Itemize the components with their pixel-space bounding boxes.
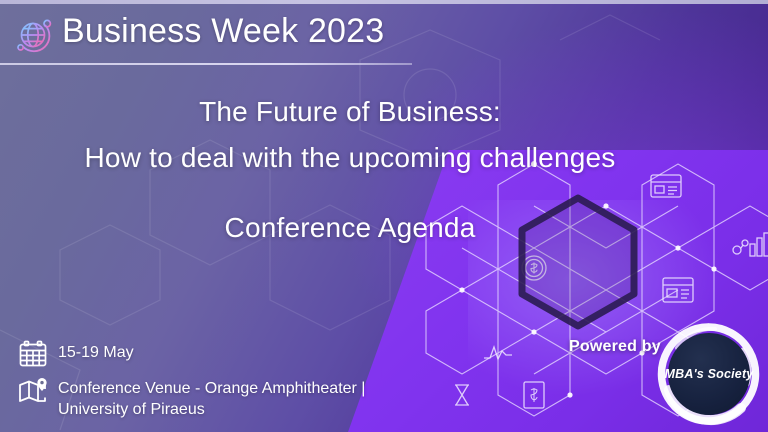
- hourglass-icon: [455, 385, 469, 405]
- browser-window-icon: [651, 175, 681, 197]
- badge-label: MBA's Society: [665, 367, 754, 381]
- globe-network-icon: [12, 14, 56, 54]
- hexagon-outline-icon: [514, 192, 642, 332]
- powered-by-label: Powered by: [569, 338, 661, 356]
- event-date-row: 15-19 May: [18, 340, 438, 368]
- event-venue-text: Conference Venue - Orange Amphitheater |…: [58, 376, 438, 420]
- calendar-icon: [18, 340, 58, 368]
- presentation-slide: Business Week 2023 The Future of Busines…: [0, 0, 768, 432]
- header-divider: [0, 63, 412, 65]
- hero-title-line-1: The Future of Business:: [0, 96, 700, 128]
- mba-society-badge: MBA's Society: [657, 322, 761, 426]
- badge-core: MBA's Society: [668, 333, 750, 415]
- bar-chart-icon: [733, 233, 768, 256]
- map-pin-icon: [18, 376, 58, 406]
- event-venue-row: Conference Venue - Orange Amphitheater |…: [18, 376, 438, 420]
- invoice-icon: [524, 382, 544, 408]
- event-info-block: 15-19 May Conference Venue - Ora: [18, 340, 438, 428]
- slide-header: Business Week 2023: [0, 0, 768, 64]
- page-title: Business Week 2023: [62, 12, 384, 51]
- event-date-text: 15-19 May: [58, 340, 134, 363]
